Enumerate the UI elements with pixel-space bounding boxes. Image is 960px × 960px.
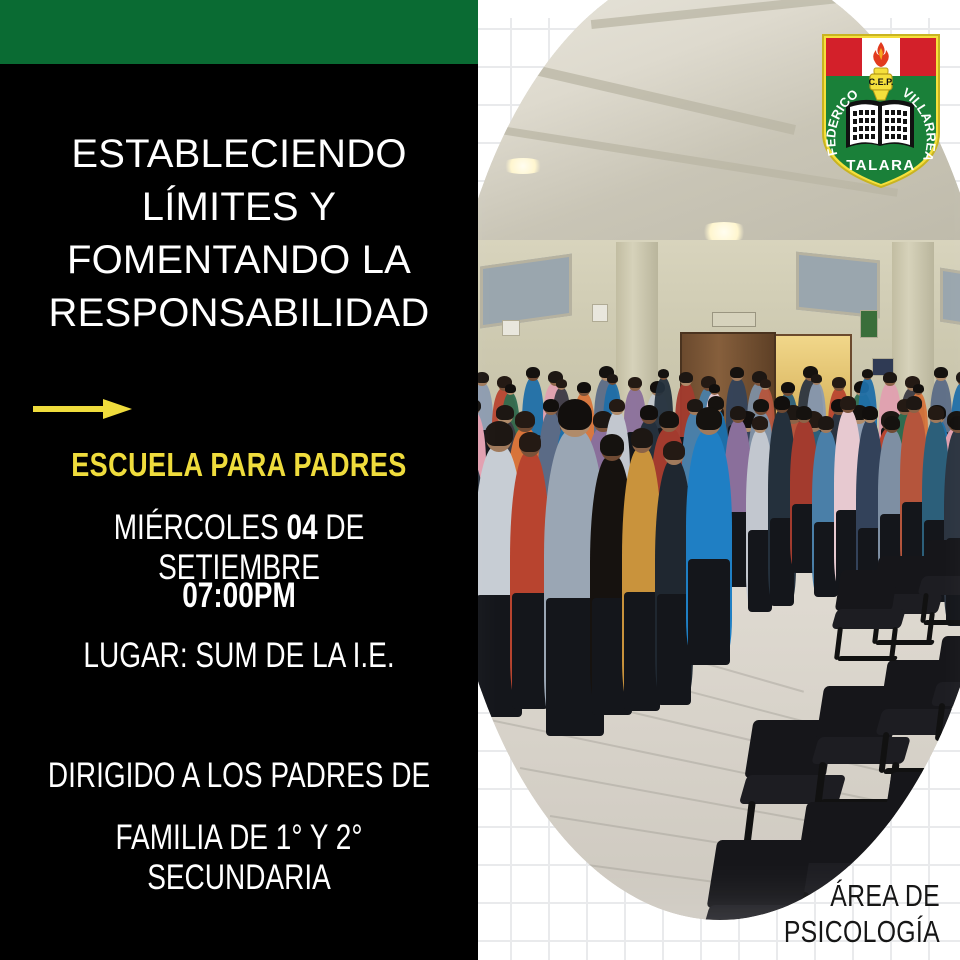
photo-person-hair xyxy=(679,372,692,383)
photo-person-hair xyxy=(609,399,625,412)
photo-person-hair xyxy=(600,434,625,456)
photo-person-hair xyxy=(934,367,947,378)
photo-person-hair xyxy=(577,382,590,393)
photo-person-hair xyxy=(928,406,945,420)
page-title: ESTABLECIENDO LÍMITES Y FOMENTANDO LA RE… xyxy=(14,128,464,340)
photo-person-hair xyxy=(913,384,925,393)
photo-wall-sign xyxy=(592,304,608,322)
green-top-bar xyxy=(0,0,478,64)
audience-line-2: FAMILIA DE 1° Y 2° SECUNDARIA xyxy=(48,818,430,898)
photo-person-hair xyxy=(796,406,813,420)
photo-exit-sign xyxy=(712,312,756,327)
photo-person-hair xyxy=(840,396,857,410)
photo-ceiling-light xyxy=(698,222,750,242)
poster-root: C.E.P. xyxy=(0,0,960,960)
photo-person-hair xyxy=(884,416,901,430)
photo-person-hair xyxy=(752,416,769,430)
school-crest-logo: C.E.P. xyxy=(818,28,944,190)
photo-person-hair xyxy=(607,374,619,383)
photo-person-hair xyxy=(730,406,747,420)
photo-window xyxy=(796,252,880,319)
photo-person-hair xyxy=(556,379,568,388)
headline-escuela-para-padres: ESCUELA PARA PADRES xyxy=(43,446,435,484)
crest-red-band-right xyxy=(900,38,936,76)
photo-person-hair xyxy=(485,421,513,446)
photo-person-hair xyxy=(628,377,641,388)
photo-person-hair xyxy=(730,367,743,378)
crest-book-icon xyxy=(846,100,914,148)
photo-person-legs xyxy=(688,559,730,665)
event-date-day: 04 xyxy=(286,508,317,547)
photo-person-hair xyxy=(631,428,654,448)
photo-person-hair xyxy=(526,367,539,378)
photo-person-hair xyxy=(496,405,514,420)
photo-person-hair xyxy=(781,382,794,393)
photo-person-legs xyxy=(512,593,548,709)
photo-person-hair xyxy=(760,379,772,388)
photo-person-hair xyxy=(709,384,721,393)
crest-abbrev-text: C.E.P. xyxy=(869,77,894,87)
photo-person-hair xyxy=(862,369,874,378)
photo-person-hair xyxy=(811,374,823,383)
photo-person-hair xyxy=(696,407,722,430)
photo-ceiling-light xyxy=(500,158,546,174)
photo-person-hair xyxy=(906,396,923,410)
photo-chair xyxy=(832,570,924,662)
photo-person-hair xyxy=(558,399,592,430)
photo-person-hair xyxy=(663,441,685,460)
photo-person-hair xyxy=(774,396,791,410)
photo-person-hair xyxy=(640,405,658,420)
photo-window xyxy=(480,254,572,329)
photo-person-hair xyxy=(505,384,517,393)
photo-person-hair xyxy=(956,371,960,383)
photo-person-hair xyxy=(832,377,845,388)
arrow-right-icon xyxy=(33,398,133,420)
photo-person-hair xyxy=(883,372,896,383)
photo-person-hair xyxy=(658,369,670,378)
photo-window xyxy=(940,268,960,331)
event-place: LUGAR: SUM DE LA I.E. xyxy=(48,636,430,676)
photo-person-hair xyxy=(862,406,879,420)
photo-person-hair xyxy=(753,399,769,412)
event-date-prefix: MIÉRCOLES xyxy=(114,508,287,547)
crest-red-band-left xyxy=(826,38,862,76)
photo-person-hair xyxy=(818,416,835,430)
photo-person-hair xyxy=(519,432,542,452)
department-caption: ÁREA DE PSICOLOGÍA xyxy=(668,878,940,950)
photo-chair xyxy=(918,540,960,626)
photo-person-hair xyxy=(659,411,679,428)
photo-person-hair xyxy=(515,411,535,428)
crest-location-text: TALARA xyxy=(846,157,916,174)
photo-wall-sign xyxy=(502,320,520,336)
left-text-panel: ESTABLECIENDO LÍMITES Y FOMENTANDO LA RE… xyxy=(0,0,478,960)
photo-person-hair xyxy=(950,416,960,430)
audience-line-1: DIRIGIDO A LOS PADRES DE xyxy=(48,756,430,796)
photo-person-hair xyxy=(543,399,559,412)
event-time: 07:00PM xyxy=(48,576,430,616)
photo-wall-sign xyxy=(860,310,878,338)
